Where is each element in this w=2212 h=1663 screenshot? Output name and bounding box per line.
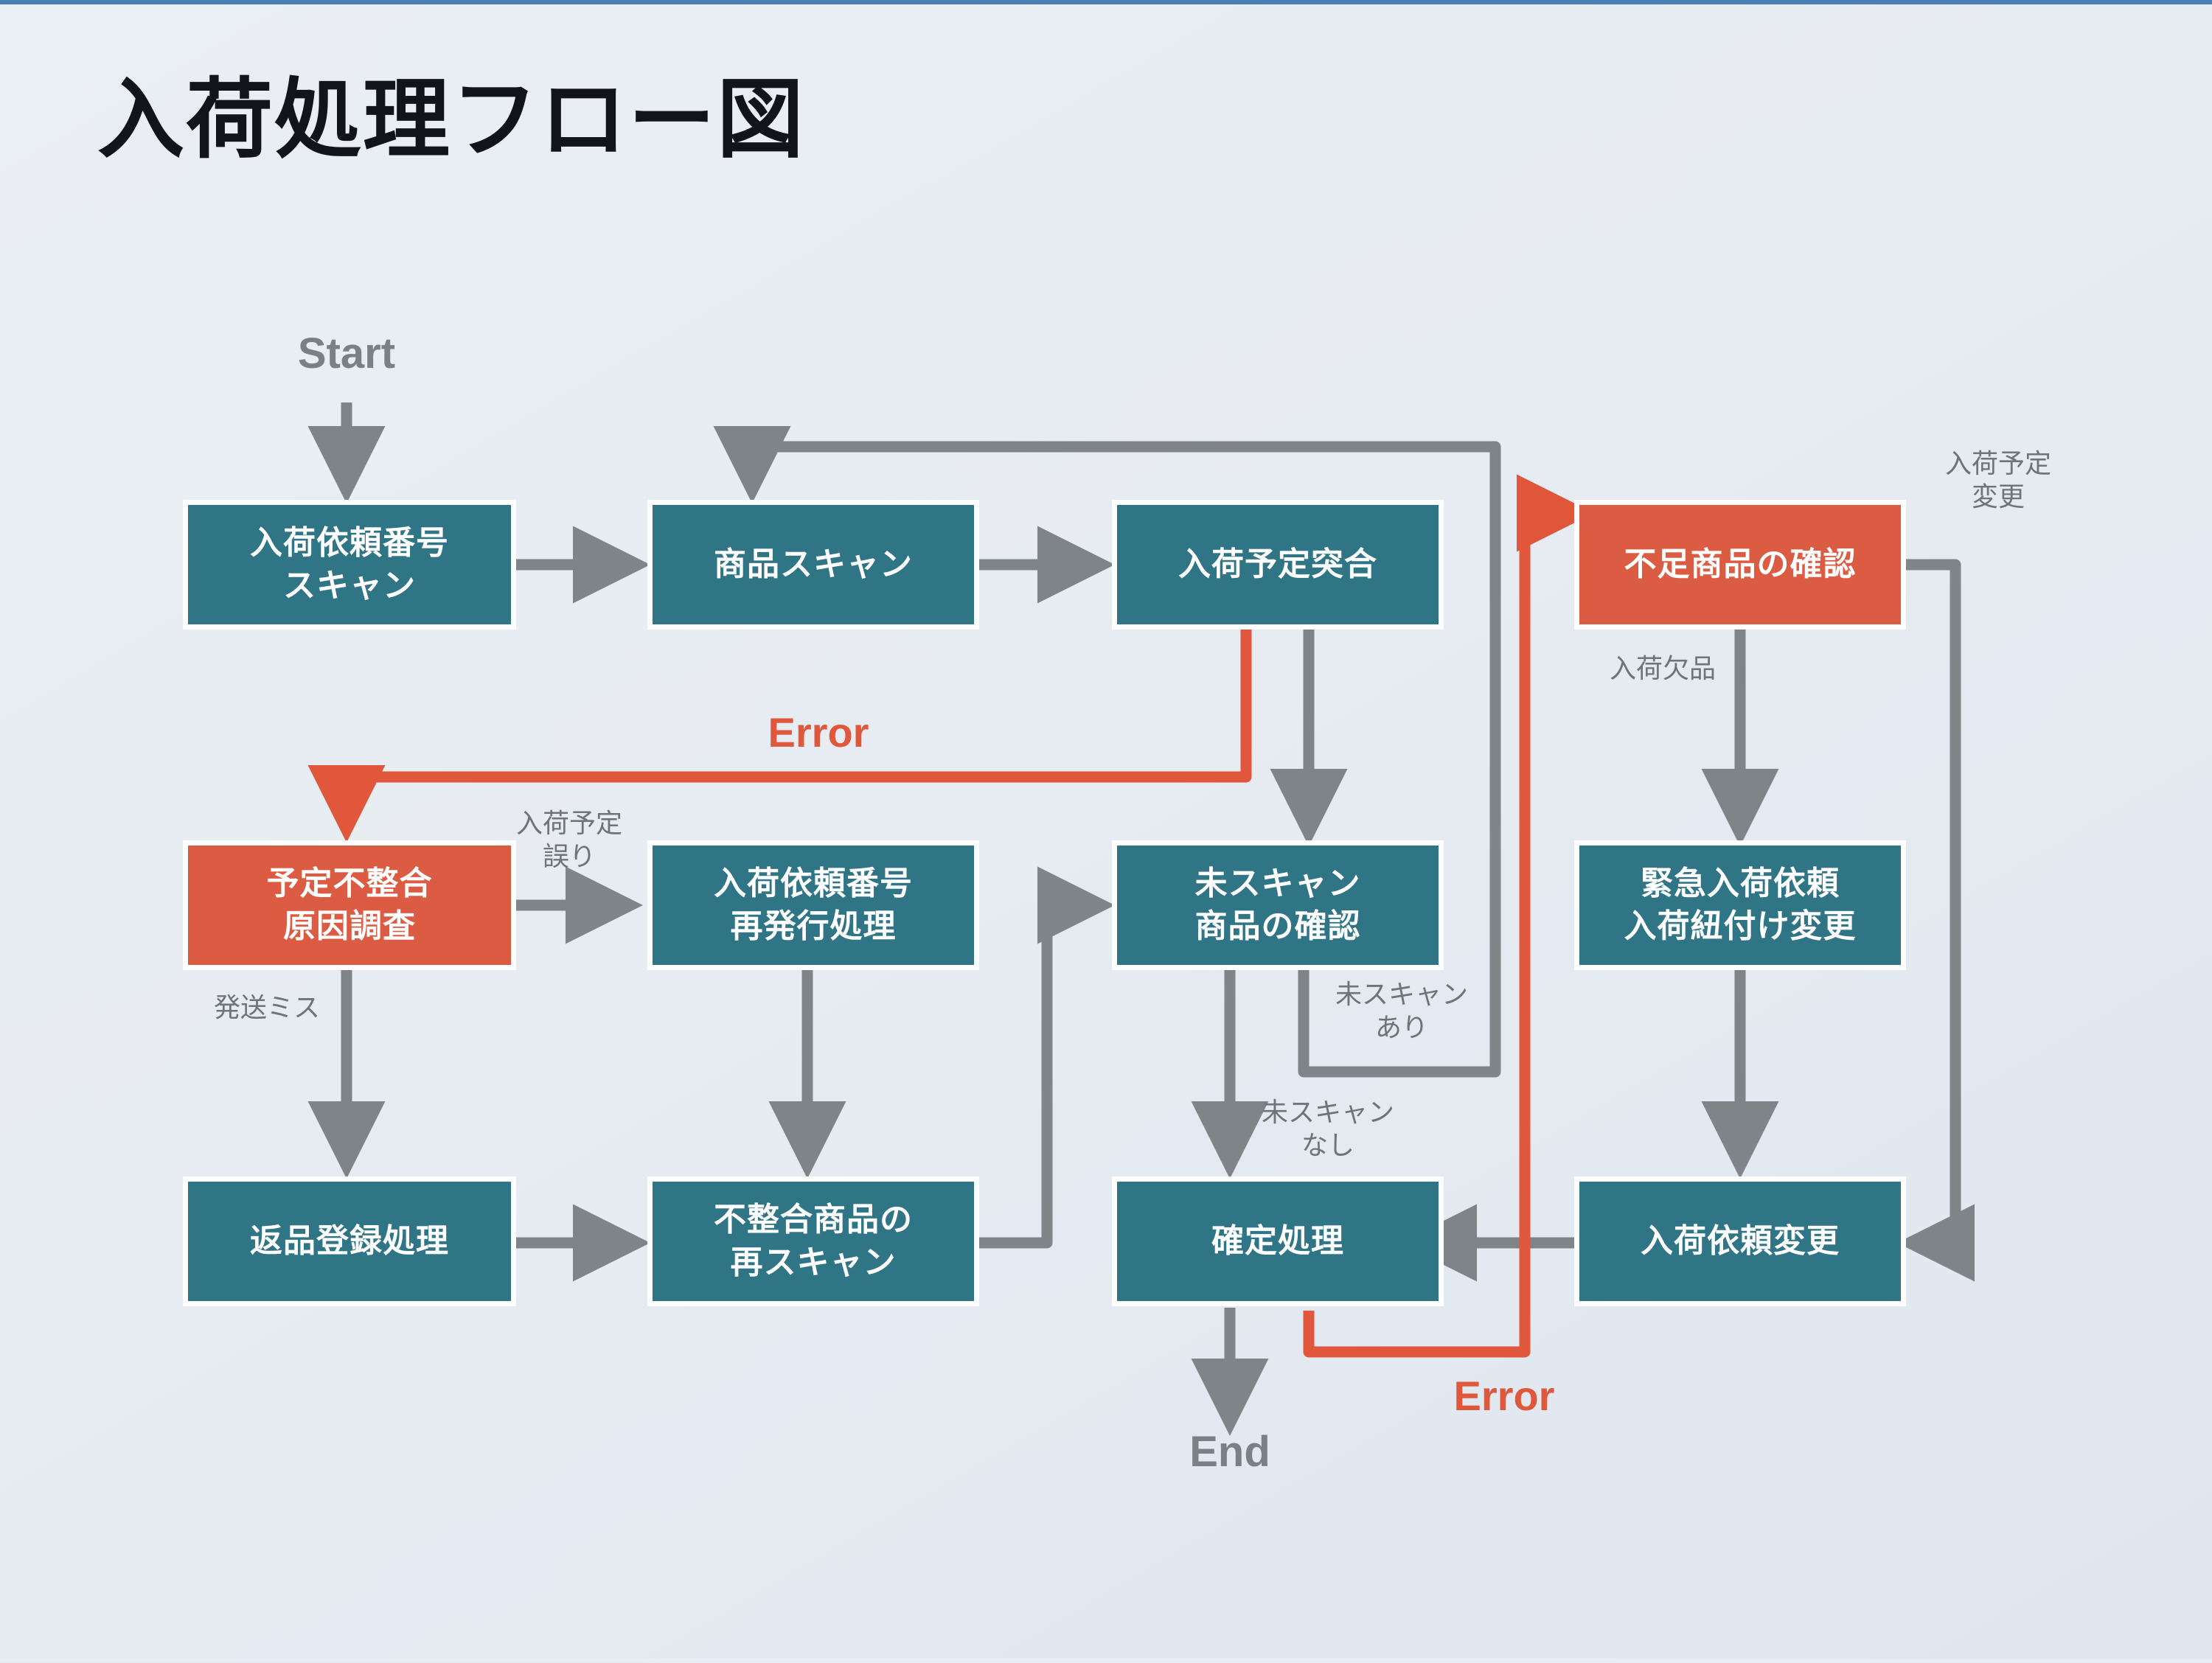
node-label: 不足商品の確認 xyxy=(1579,543,1901,586)
node-yotei-fuseigo-genin-chosa[interactable]: 予定不整合原因調査 xyxy=(183,840,516,970)
node-kinkyu-nyuka-irai[interactable]: 緊急入荷依頼入荷紐付け変更 xyxy=(1574,840,1906,970)
node-nyuka-yotei-totsugo[interactable]: 入荷予定突合 xyxy=(1112,500,1444,630)
node-label: 緊急入荷依頼入荷紐付け変更 xyxy=(1579,862,1901,948)
terminal-end: End xyxy=(1156,1427,1304,1477)
node-henpin-toroku-shori[interactable]: 返品登録処理 xyxy=(183,1176,516,1306)
connector-layer xyxy=(0,4,2212,1663)
node-label: 返品登録処理 xyxy=(188,1220,511,1263)
node-nyuka-irai-bango-scan[interactable]: 入荷依頼番号スキャン xyxy=(183,500,516,630)
node-label: 不整合商品の再スキャン xyxy=(653,1199,974,1284)
node-label: 確定処理 xyxy=(1117,1220,1439,1263)
terminal-start: Start xyxy=(273,329,420,378)
node-label: 入荷予定突合 xyxy=(1117,543,1439,586)
node-miscan-shohin-kakunin[interactable]: 未スキャン商品の確認 xyxy=(1112,840,1444,970)
edge-label-nyuka-yotei-henko: 入荷予定変更 xyxy=(1895,447,2101,513)
node-label: 未スキャン商品の確認 xyxy=(1117,862,1439,948)
node-kakutei-shori[interactable]: 確定処理 xyxy=(1112,1176,1444,1306)
node-fusoku-shohin-kakunin[interactable]: 不足商品の確認 xyxy=(1574,500,1906,630)
edge-label-hassou-miss: 発送ミス xyxy=(193,991,341,1024)
node-nyuka-irai-bango-saihakko[interactable]: 入荷依頼番号再発行処理 xyxy=(647,840,979,970)
node-shohin-scan[interactable]: 商品スキャン xyxy=(647,500,979,630)
node-label: 入荷依頼変更 xyxy=(1579,1220,1901,1263)
flowchart-canvas: 入荷処理フロー図 xyxy=(0,0,2212,1659)
edge-n10-to-n7 xyxy=(977,905,1095,1243)
node-fuseigo-shohin-saiscan[interactable]: 不整合商品の再スキャン xyxy=(647,1176,979,1306)
edge-label-error-top: Error xyxy=(693,708,944,756)
edge-label-nyuka-yotei-ayamari: 入荷予定誤り xyxy=(495,806,643,873)
edge-label-nyuka-ketsupin: 入荷欠品 xyxy=(1578,652,1747,685)
edge-label-error-bottom: Error xyxy=(1379,1372,1630,1420)
edge-label-miscan-nashi: 未スキャンなし xyxy=(1243,1095,1413,1162)
node-label: 入荷依頼番号スキャン xyxy=(188,522,511,607)
node-label: 予定不整合原因調査 xyxy=(188,862,511,948)
node-label: 商品スキャン xyxy=(653,543,974,586)
node-nyuka-irai-henko[interactable]: 入荷依頼変更 xyxy=(1574,1176,1906,1306)
edge-label-miscan-ari: 未スキャンあり xyxy=(1317,977,1486,1044)
node-label: 入荷依頼番号再発行処理 xyxy=(653,862,974,948)
edge-n4-to-n12 xyxy=(1901,565,1955,1243)
